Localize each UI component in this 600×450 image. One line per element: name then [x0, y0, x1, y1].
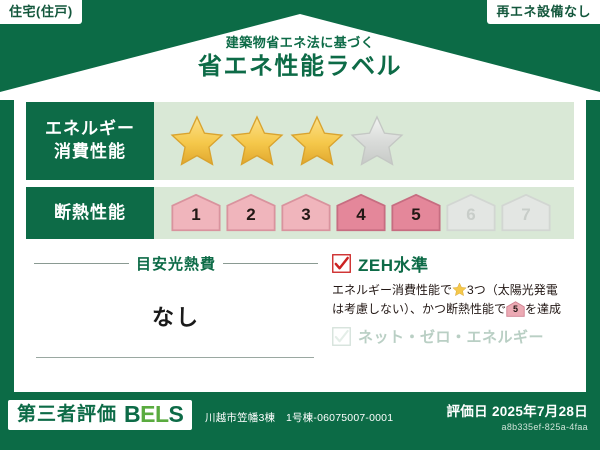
- bels-logo: BELS: [124, 403, 183, 426]
- mini-house-level: 5: [506, 305, 525, 314]
- bels-logo-b: B: [124, 401, 140, 427]
- evaluation-id: a8b335ef-825a-4faa: [446, 422, 588, 432]
- house-level-number: 1: [170, 206, 222, 223]
- insulation-performance-label: 断熱性能: [26, 187, 154, 239]
- house-level-number: 6: [445, 206, 497, 223]
- star-filled-icon: [170, 114, 224, 168]
- zeh-desc-part3: を達成: [525, 302, 561, 316]
- title-block: 建築物省エネ法に基づく 省エネ性能ラベル: [0, 36, 600, 82]
- heading-rule-left: [34, 263, 129, 264]
- star-filled-icon: [290, 114, 344, 168]
- insulation-performance-value: 1234567: [154, 187, 574, 239]
- utility-cost-heading: 目安光熱費: [26, 253, 326, 274]
- zeh-check-line: ZEH水準: [332, 251, 574, 276]
- insulation-performance-row: 断熱性能 1234567: [26, 187, 574, 239]
- house-level-number: 5: [390, 206, 442, 223]
- evaluation-date-label: 評価日: [446, 404, 487, 419]
- heading-rule-right: [223, 263, 318, 264]
- house-level-filled: 1: [170, 193, 222, 233]
- zeh-column: ZEH水準 エネルギー消費性能で3つ（太陽光発電 は考慮しない）、かつ断熱性能で…: [326, 247, 574, 389]
- property-address: 川越市笠幡3棟 1号棟-06075007-0001: [205, 410, 393, 425]
- zeh-desc-part1: エネルギー消費性能で: [332, 283, 452, 297]
- utility-cost-divider: [36, 357, 314, 358]
- bels-badge: 第三者評価 BELS: [8, 400, 192, 430]
- checkbox-unchecked-icon: [332, 327, 351, 346]
- house-level-number: 4: [335, 206, 387, 223]
- house-level-empty: 6: [445, 193, 497, 233]
- evaluation-date-value: 2025年7月28日: [492, 404, 588, 419]
- checkbox-checked-icon: [332, 254, 351, 273]
- label-subtitle: 建築物省エネ法に基づく: [0, 36, 600, 50]
- energy-label-line1: エネルギー: [45, 118, 135, 141]
- utility-cost-column: 目安光熱費 なし: [26, 247, 326, 389]
- house-level-filled: 3: [280, 193, 332, 233]
- energy-performance-label: エネルギー 消費性能: [26, 102, 154, 180]
- zeh-desc-part2: は考慮しない）、かつ断熱性能で: [332, 302, 506, 316]
- house-level-scale: 1234567: [170, 193, 552, 233]
- utility-cost-heading-text: 目安光熱費: [136, 253, 216, 274]
- star-rating: [170, 114, 404, 168]
- star-empty-icon: [350, 114, 404, 168]
- bels-logo-el: EL: [140, 401, 168, 427]
- evaluation-info: 評価日 2025年7月28日 a8b335ef-825a-4faa: [446, 400, 588, 432]
- label-panel: エネルギー 消費性能 断熱性能 1234567 目安光熱費 なし: [14, 92, 586, 392]
- energy-performance-row: エネルギー 消費性能: [26, 102, 574, 180]
- insulation-label-text: 断熱性能: [54, 202, 126, 225]
- house-level-number: 2: [225, 206, 277, 223]
- net-zero-energy-line: ネット・ゼロ・エネルギー: [332, 326, 574, 347]
- energy-performance-value: [154, 102, 574, 180]
- third-party-evaluation-label: 第三者評価: [17, 405, 117, 424]
- house-level-filled: 2: [225, 193, 277, 233]
- page-title: 省エネ性能ラベル: [0, 52, 600, 82]
- house-level-filled: 4: [335, 193, 387, 233]
- zeh-description: エネルギー消費性能で3つ（太陽光発電 は考慮しない）、かつ断熱性能で5を達成: [332, 281, 574, 318]
- bels-logo-s: S: [169, 401, 184, 427]
- energy-label-line2: 消費性能: [54, 141, 126, 164]
- footer: 第三者評価 BELS 川越市笠幡3棟 1号棟-06075007-0001 評価日…: [0, 392, 600, 450]
- net-zero-energy-label: ネット・ゼロ・エネルギー: [358, 326, 544, 347]
- zeh-title: ZEH水準: [358, 251, 429, 276]
- evaluation-date: 評価日 2025年7月28日: [446, 400, 588, 420]
- lower-section: 目安光熱費 なし ZEH水準 エネルギー消費性能で3つ（太陽光発電 は考慮しない…: [26, 247, 574, 389]
- zeh-desc-stars: 3つ（太陽光発電: [467, 283, 558, 297]
- house-level-number: 3: [280, 206, 332, 223]
- house-level-empty: 7: [500, 193, 552, 233]
- mini-star-icon: [452, 282, 467, 297]
- house-level-filled: 5: [390, 193, 442, 233]
- house-level-number: 7: [500, 206, 552, 223]
- star-filled-icon: [230, 114, 284, 168]
- utility-cost-value: なし: [26, 300, 326, 332]
- renewable-energy-tag: 再エネ設備なし: [487, 0, 600, 24]
- building-type-tag: 住宅(住戸): [0, 0, 82, 24]
- mini-house-icon: 5: [506, 301, 525, 317]
